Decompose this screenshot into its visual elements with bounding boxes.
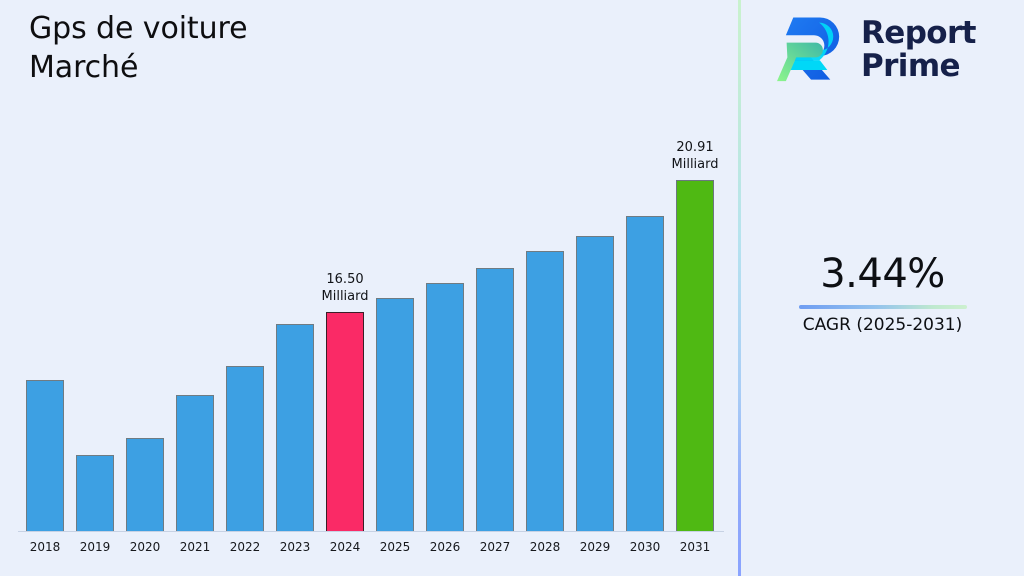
x-tick-2021: 2021 xyxy=(170,540,220,554)
bar-2028[interactable] xyxy=(520,130,570,532)
x-tick-2019: 2019 xyxy=(70,540,120,554)
market-report-slide: Gps de voiture Marché 16.50 Milliard20.9… xyxy=(0,0,1024,576)
bar-2018[interactable] xyxy=(20,130,70,532)
x-tick-2018: 2018 xyxy=(20,540,70,554)
bar-2026[interactable] xyxy=(420,130,470,532)
bar-2031[interactable] xyxy=(670,130,720,532)
bar-rect-2019[interactable] xyxy=(76,455,114,532)
x-tick-2022: 2022 xyxy=(220,540,270,554)
bar-rect-2027[interactable] xyxy=(476,268,514,532)
bar-rect-2022[interactable] xyxy=(226,366,264,532)
bar-2027[interactable] xyxy=(470,130,520,532)
x-tick-2026: 2026 xyxy=(420,540,470,554)
x-tick-2029: 2029 xyxy=(570,540,620,554)
bar-2024[interactable] xyxy=(320,130,370,532)
bar-2029[interactable] xyxy=(570,130,620,532)
bar-rect-2030[interactable] xyxy=(626,216,664,532)
report-prime-logo-icon xyxy=(777,13,851,87)
bar-rect-2023[interactable] xyxy=(276,324,314,532)
brand-panel: Report Prime 3.44% CAGR (2025-2031) xyxy=(741,0,1024,576)
bar-2019[interactable] xyxy=(70,130,120,532)
bar-rect-2024[interactable] xyxy=(326,312,364,532)
cagr-divider xyxy=(799,305,967,309)
x-tick-2031: 2031 xyxy=(670,540,720,554)
page-title: Gps de voiture Marché xyxy=(29,9,449,87)
report-prime-logo: Report Prime xyxy=(777,8,1009,92)
x-tick-2024: 2024 xyxy=(320,540,370,554)
x-axis-line xyxy=(18,531,724,532)
cagr-caption: CAGR (2025-2031) xyxy=(741,314,1024,336)
bar-rect-2025[interactable] xyxy=(376,298,414,532)
x-tick-2025: 2025 xyxy=(370,540,420,554)
bar-rect-2026[interactable] xyxy=(426,283,464,532)
x-tick-2023: 2023 xyxy=(270,540,320,554)
cagr-value: 3.44% xyxy=(741,250,1024,298)
x-tick-2020: 2020 xyxy=(120,540,170,554)
bar-rect-2020[interactable] xyxy=(126,438,164,532)
bar-rect-2031[interactable] xyxy=(676,180,714,532)
bar-rect-2018[interactable] xyxy=(26,380,64,532)
x-tick-2027: 2027 xyxy=(470,540,520,554)
x-tick-2028: 2028 xyxy=(520,540,570,554)
bar-2020[interactable] xyxy=(120,130,170,532)
bar-chart-plot-area: 16.50 Milliard20.91 Milliard xyxy=(0,130,739,532)
bar-rect-2028[interactable] xyxy=(526,251,564,532)
bar-2030[interactable] xyxy=(620,130,670,532)
bar-rect-2029[interactable] xyxy=(576,236,614,532)
x-tick-2030: 2030 xyxy=(620,540,670,554)
cagr-block: 3.44% CAGR (2025-2031) xyxy=(741,250,1024,336)
chart-panel: Gps de voiture Marché 16.50 Milliard20.9… xyxy=(0,0,739,576)
bar-value-label-2031: 20.91 Milliard xyxy=(650,139,740,173)
brand-wordmark: Report Prime xyxy=(861,17,976,83)
bar-2022[interactable] xyxy=(220,130,270,532)
bar-2023[interactable] xyxy=(270,130,320,532)
bar-2021[interactable] xyxy=(170,130,220,532)
bar-rect-2021[interactable] xyxy=(176,395,214,532)
bar-2025[interactable] xyxy=(370,130,420,532)
